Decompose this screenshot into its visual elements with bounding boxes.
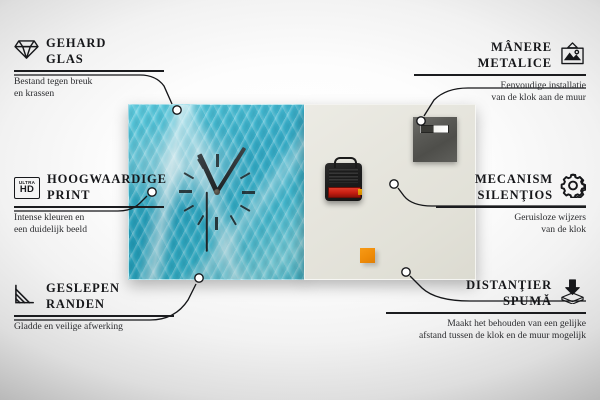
gear-icon xyxy=(560,173,586,203)
picture-frame-icon xyxy=(559,42,586,70)
foam-spacer xyxy=(360,248,375,263)
callout-subtitle: Gladde en veilige afwerking xyxy=(14,321,174,334)
callout-mecanism-silentios[interactable]: MECANISM SILENŢIOS Geruisloze wijzers va… xyxy=(436,172,586,237)
callout-title-row: ultra HD HOOGWAARDIGE PRINT xyxy=(14,172,164,203)
callout-rule xyxy=(14,206,164,207)
callout-title-row: MECANISM SILENŢIOS xyxy=(436,172,586,203)
diagonal-lines-icon xyxy=(14,283,39,310)
callout-gehard-glas[interactable]: GEHARD GLAS Bestand tegen breuk en krass… xyxy=(14,36,164,101)
callout-title-row: GEHARD GLAS xyxy=(14,36,164,67)
hanger-slot xyxy=(420,125,449,133)
diamond-icon xyxy=(14,39,39,65)
callout-subtitle: Intense kleuren en een duidelijk beeld xyxy=(14,212,164,237)
callout-rule xyxy=(14,70,164,71)
callout-title: GEHARD GLAS xyxy=(46,36,106,67)
mechanism-handle xyxy=(334,157,357,168)
callout-title: MÂNERE METALICE xyxy=(478,40,552,71)
callout-geslepen-randen[interactable]: GESLEPEN RANDEN Gladde en veilige afwerk… xyxy=(14,281,174,333)
callout-title-row: GESLEPEN RANDEN xyxy=(14,281,174,312)
hands-pin xyxy=(214,189,220,195)
ultra-hd-icon: ultra HD xyxy=(14,177,40,199)
callout-title-row: DISTANŢIER SPUMĂ xyxy=(386,278,586,309)
callout-rule xyxy=(414,74,586,75)
callout-rule xyxy=(386,312,586,313)
infographic-canvas: GEHARD GLAS Bestand tegen breuk en krass… xyxy=(0,0,600,400)
callout-title-row: MÂNERE METALICE xyxy=(414,40,586,71)
second-hand xyxy=(206,192,208,252)
callout-title: HOOGWAARDIGE PRINT xyxy=(47,172,167,203)
clock-mechanism xyxy=(325,163,362,201)
ultra-hd-icon-main-label: HD xyxy=(20,185,34,195)
callout-rule xyxy=(14,315,174,316)
callout-subtitle: Eenvoudige installatie van de klok aan d… xyxy=(414,80,586,105)
mechanism-body xyxy=(329,169,358,183)
callout-subtitle: Geruisloze wijzers van de klok xyxy=(436,212,586,237)
callout-title: DISTANŢIER SPUMĂ xyxy=(466,278,552,309)
callout-manere-metalice[interactable]: MÂNERE METALICE Eenvoudige installatie v… xyxy=(414,40,586,105)
callout-distantier-spuma[interactable]: DISTANŢIER SPUMĂ Maakt het behouden van … xyxy=(386,278,586,343)
callout-rule xyxy=(436,206,586,207)
callout-subtitle: Maakt het behouden van een gelijke afsta… xyxy=(386,318,586,343)
callout-title: GESLEPEN RANDEN xyxy=(46,281,120,312)
metal-hanger xyxy=(413,117,457,162)
callout-hoogwaardige-print[interactable]: ultra HD HOOGWAARDIGE PRINT Intense kleu… xyxy=(14,172,164,237)
callout-subtitle: Bestand tegen breuk en krassen xyxy=(14,76,164,101)
callout-title: MECANISM SILENŢIOS xyxy=(475,172,553,203)
foam-spacer-icon xyxy=(559,279,586,309)
product-image xyxy=(128,104,474,278)
battery xyxy=(328,187,361,198)
